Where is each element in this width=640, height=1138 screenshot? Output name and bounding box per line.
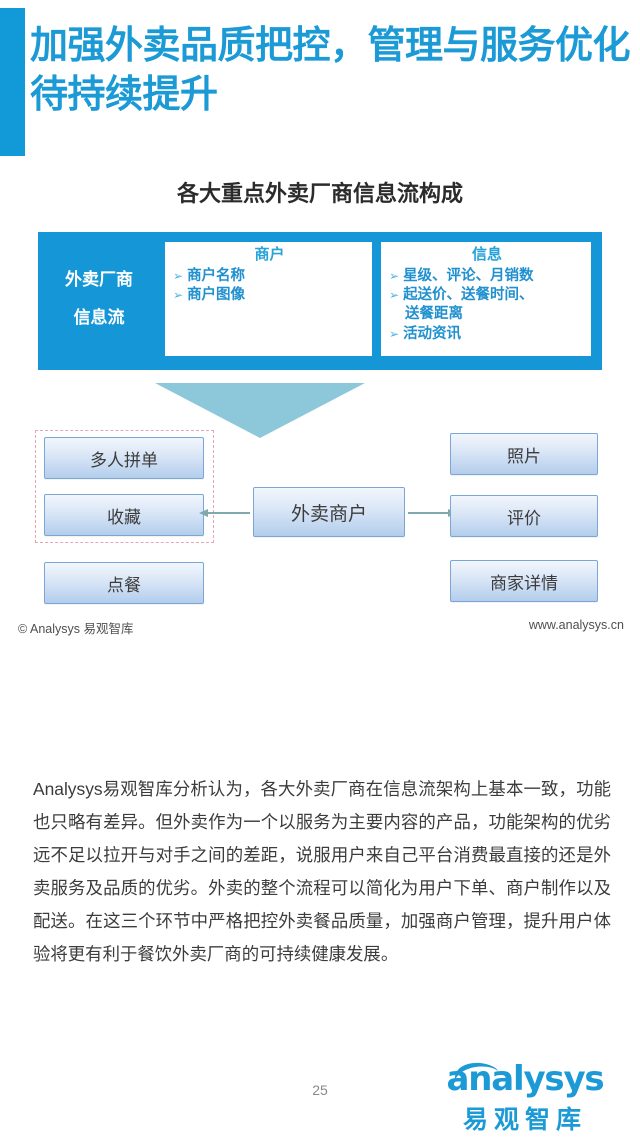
analysis-paragraph: Analysys易观智库分析认为，各大外卖厂商在信息流架构上基本一致，功能也只略… [33, 773, 611, 971]
arrow-bullet-icon: ➢ [389, 325, 399, 344]
list-item: ➢商户名称 [173, 267, 366, 286]
flow-node-order-food[interactable]: 点餐 [44, 562, 204, 604]
flow-diagram: 多人拼单 收藏 点餐 外卖商户 照片 评价 商家详情 [0, 425, 640, 610]
card-information-header: 信息 [389, 246, 585, 265]
arrow-bullet-icon: ➢ [173, 286, 183, 305]
card-merchant-list: ➢商户名称 ➢商户图像 [173, 267, 366, 306]
flow-node-merchant[interactable]: 外卖商户 [253, 487, 405, 537]
card-merchant-header: 商户 [173, 246, 366, 265]
list-item: ➢活动资讯 [389, 325, 585, 344]
info-flow-panel: 外卖厂商 信息流 商户 ➢商户名称 ➢商户图像 信息 ➢星级、评论、月销数 ➢起… [38, 232, 602, 370]
arrow-right-icon [408, 512, 448, 514]
logo-swoosh-icon [452, 1061, 500, 1085]
flow-node-photo[interactable]: 照片 [450, 433, 598, 475]
slide-page: 加强外卖品质把控，管理与服务优化待持续提升 各大重点外卖厂商信息流构成 外卖厂商… [0, 0, 640, 1138]
list-item-continuation: 送餐距离 [389, 305, 585, 324]
list-item: ➢星级、评论、月销数 [389, 267, 585, 286]
page-header: 加强外卖品质把控，管理与服务优化待持续提升 [0, 0, 640, 158]
card-information: 信息 ➢星级、评论、月销数 ➢起送价、送餐时间、 送餐距离 ➢活动资讯 [381, 242, 591, 356]
header-accent-bar [0, 8, 25, 156]
arrow-left-icon [208, 512, 250, 514]
flow-node-merchant-detail[interactable]: 商家详情 [450, 560, 598, 602]
credits-row: © Analysys 易观智库 www.analysys.cn [0, 618, 640, 640]
flow-node-favorite[interactable]: 收藏 [44, 494, 204, 536]
analysys-logo: analysys 易观智库 [430, 1062, 620, 1132]
logo-chinese-name: 易观智库 [430, 1100, 620, 1136]
flow-node-review[interactable]: 评价 [450, 495, 598, 537]
panel-label: 外卖厂商 信息流 [38, 242, 156, 356]
flow-node-group-order[interactable]: 多人拼单 [44, 437, 204, 479]
list-item: ➢起送价、送餐时间、 [389, 286, 585, 305]
list-item: ➢商户图像 [173, 286, 366, 305]
panel-label-line-2: 信息流 [74, 308, 125, 328]
diagram-title: 各大重点外卖厂商信息流构成 [0, 176, 640, 208]
arrow-bullet-icon: ➢ [389, 267, 399, 286]
copyright-text: © Analysys 易观智库 [18, 618, 134, 637]
card-merchant: 商户 ➢商户名称 ➢商户图像 [165, 242, 372, 356]
arrow-bullet-icon: ➢ [389, 286, 399, 305]
panel-label-line-1: 外卖厂商 [65, 270, 133, 290]
arrow-bullet-icon: ➢ [173, 267, 183, 286]
website-url[interactable]: www.analysys.cn [529, 618, 624, 632]
page-title: 加强外卖品质把控，管理与服务优化待持续提升 [30, 22, 630, 119]
card-information-list: ➢星级、评论、月销数 ➢起送价、送餐时间、 送餐距离 ➢活动资讯 [389, 267, 585, 344]
